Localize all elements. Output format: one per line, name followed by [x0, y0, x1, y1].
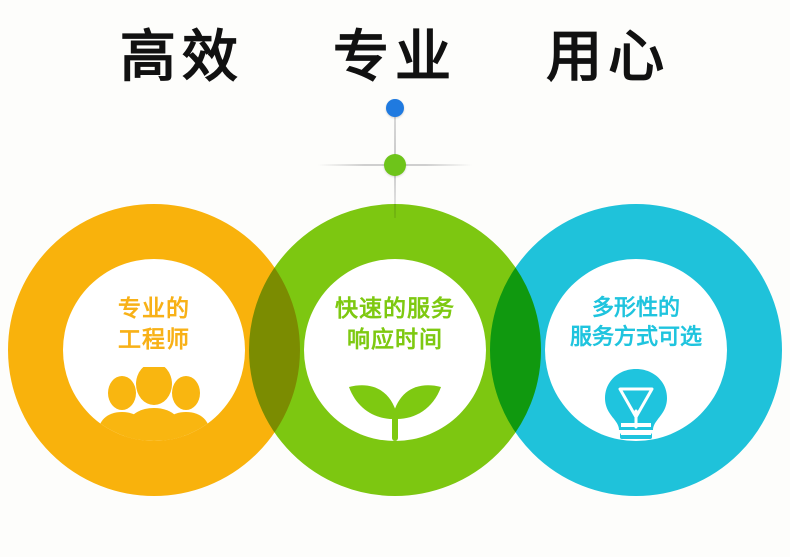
circle-service-modes[interactable]: 多形性的 服务方式可选 — [545, 259, 727, 441]
title-segment-2: 专业 — [333, 26, 457, 88]
circle-response-line2: 响应时间 — [304, 324, 486, 355]
circle-response[interactable]: 快速的服务 响应时间 — [304, 259, 486, 441]
circle-engineers-line2: 工程师 — [63, 324, 245, 355]
title-segment-3: 用心 — [546, 26, 670, 88]
title-segment-1: 高效 — [120, 26, 244, 88]
circle-service-modes-line2: 服务方式可选 — [545, 322, 727, 351]
circle-engineers-text: 专业的 工程师 — [63, 293, 245, 355]
page-title: 高效 专业 用心 — [0, 26, 790, 88]
circle-engineers-line1: 专业的 — [63, 293, 245, 324]
people-team-icon — [63, 367, 245, 441]
sprout-leaf-icon — [304, 367, 486, 441]
circle-response-text: 快速的服务 响应时间 — [304, 293, 486, 355]
circle-service-modes-line1: 多形性的 — [545, 293, 727, 322]
poster-canvas: 高效 专业 用心 专业的 工程师 — [0, 0, 790, 557]
green-dot-icon — [384, 154, 406, 176]
circle-response-line1: 快速的服务 — [304, 293, 486, 324]
blue-dot-icon — [386, 99, 404, 117]
circle-engineers[interactable]: 专业的 工程师 — [63, 259, 245, 441]
lightbulb-icon — [545, 367, 727, 441]
circle-service-modes-text: 多形性的 服务方式可选 — [545, 293, 727, 352]
